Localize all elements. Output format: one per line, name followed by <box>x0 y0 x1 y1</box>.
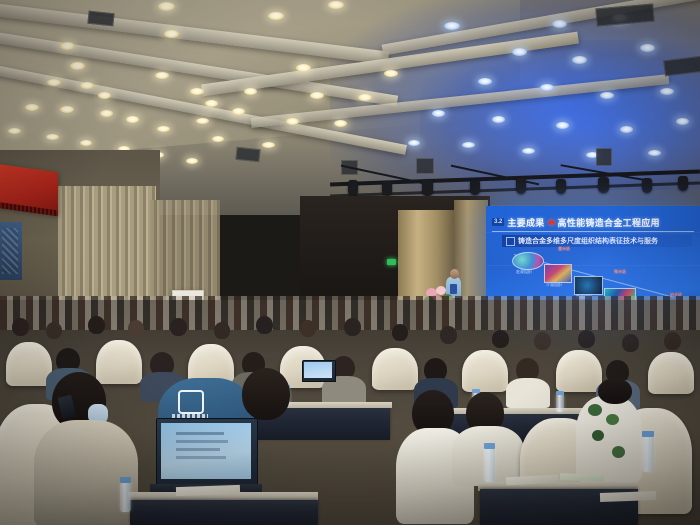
audience-head <box>214 322 230 339</box>
bullet-dot-icon <box>548 220 555 225</box>
audience-head <box>88 316 105 334</box>
downlight <box>432 110 445 117</box>
banner-square-icon <box>506 237 515 246</box>
micrograph-image <box>544 264 572 283</box>
downlight <box>158 2 175 11</box>
blouse-floral-motif <box>588 404 602 416</box>
downlight <box>286 118 299 125</box>
bottle-cap <box>484 443 495 449</box>
downlight <box>522 148 535 154</box>
downlight <box>334 120 347 127</box>
downlight <box>60 106 74 113</box>
slide-banner-text: 铸造合金多维多尺度组织结构表征技术与服务 <box>518 236 658 246</box>
audience-head <box>622 334 639 352</box>
water-bottle <box>120 482 131 512</box>
audience-head <box>440 326 457 344</box>
stage-light <box>678 176 688 191</box>
downlight <box>676 118 689 125</box>
downlight <box>492 116 505 123</box>
downlight <box>408 140 420 146</box>
downlight <box>358 94 372 101</box>
water-bottle <box>484 448 495 482</box>
downlight <box>478 78 492 85</box>
chair <box>372 348 418 390</box>
downlight <box>205 100 218 107</box>
wall-panel-decor <box>2 228 18 274</box>
slide-section-number: 3.2 <box>492 218 504 226</box>
stage-light <box>348 180 358 196</box>
downlight <box>8 128 21 134</box>
laptop-document-line <box>176 456 226 459</box>
ceiling-vent <box>87 11 114 27</box>
stage-light <box>470 180 480 195</box>
downlight <box>80 140 92 146</box>
downlight <box>244 88 257 95</box>
blouse-floral-motif <box>612 446 625 458</box>
water-bottle <box>556 394 564 412</box>
ceiling-vent <box>235 147 260 162</box>
downlight <box>46 134 59 140</box>
downlight <box>25 104 39 111</box>
slide-section-label: 主要成果 <box>507 216 544 229</box>
downlight <box>444 22 460 30</box>
slide-banner: 铸造合金多维多尺度组织结构表征技术与服务 <box>502 235 692 247</box>
micrograph-label: 宏观组织 <box>516 269 532 275</box>
micrograph-image <box>574 276 603 295</box>
stage-light <box>598 177 609 193</box>
downlight <box>98 92 111 99</box>
downlight <box>155 72 169 79</box>
audience-head-foreground <box>598 378 632 404</box>
audience-head <box>128 320 144 337</box>
shirt-logo <box>178 390 204 414</box>
downlight <box>157 126 170 132</box>
downlight <box>620 126 633 133</box>
downlight <box>600 92 614 99</box>
bottle-cap <box>642 431 654 437</box>
downlight <box>648 150 661 156</box>
laptop-screen-content <box>304 362 332 378</box>
downlight <box>572 56 587 64</box>
slide-header: 3.2 主要成果 高性能铸造合金工程应用 <box>492 215 696 229</box>
laptop-document-line <box>176 448 220 451</box>
downlight <box>556 122 569 129</box>
downlight <box>328 1 344 9</box>
downlight <box>47 79 61 86</box>
downlight <box>232 108 245 115</box>
stage-light <box>556 179 566 194</box>
blouse-floral-motif <box>592 430 604 441</box>
speaker-head <box>450 269 459 279</box>
laptop[interactable] <box>300 360 336 384</box>
document-handout[interactable] <box>560 473 604 482</box>
audience-head <box>12 318 29 336</box>
stage-light <box>422 179 433 196</box>
downlight <box>60 42 75 50</box>
micrograph-tag: 微米级 <box>614 269 626 275</box>
downlight <box>462 142 475 148</box>
audience-head <box>300 320 316 337</box>
audience-head <box>534 332 551 350</box>
blouse-floral-motif <box>606 414 619 425</box>
downlight <box>552 20 567 28</box>
stage-light <box>642 178 652 193</box>
downlight <box>164 30 179 38</box>
bottle-cap <box>556 391 564 395</box>
bottle-cap <box>120 477 131 483</box>
downlight <box>512 48 527 56</box>
downlight <box>212 136 224 142</box>
audience-head <box>170 318 187 336</box>
downlight <box>186 158 198 164</box>
audience-head <box>392 324 408 341</box>
ceiling-speaker <box>596 148 612 166</box>
audience-head <box>46 322 62 339</box>
exit-sign <box>387 259 396 265</box>
water-bottle <box>642 436 654 472</box>
stage-light <box>382 181 392 196</box>
downlight <box>660 88 674 95</box>
downlight <box>126 116 139 123</box>
audience-head <box>578 330 595 348</box>
downlight <box>196 118 209 124</box>
downlight <box>296 64 311 72</box>
table-skirt-foreground <box>130 500 318 525</box>
downlight <box>80 82 94 89</box>
audience-head <box>492 330 509 348</box>
chair <box>648 352 694 394</box>
downlight <box>190 88 204 95</box>
chair <box>96 340 142 384</box>
micrograph-image <box>512 252 544 270</box>
audience-head <box>344 318 361 336</box>
audience-head <box>664 332 681 350</box>
slide-header-rule <box>492 231 694 232</box>
downlight <box>268 12 284 20</box>
laptop-foreground[interactable] <box>150 418 262 496</box>
slide-headline: 高性能铸造合金工程应用 <box>558 216 660 229</box>
downlight <box>310 92 324 99</box>
micrograph-label: 介观组织 <box>546 282 562 288</box>
downlight <box>262 142 275 148</box>
chair <box>462 350 508 392</box>
downlight <box>100 110 113 117</box>
stage-light <box>516 178 526 194</box>
audience-torso-foreground <box>576 396 642 482</box>
laptop-document-line <box>176 440 228 443</box>
downlight <box>540 84 554 91</box>
downlight <box>640 44 655 52</box>
audience-head-foreground <box>242 368 290 420</box>
audience-head <box>256 316 273 334</box>
micrograph-tag: 厘米级 <box>558 246 570 252</box>
laptop-document-line <box>176 432 224 435</box>
conference-hall-photo: 3.2 主要成果 高性能铸造合金工程应用 铸造合金多维多尺度组织结构表征技术与服… <box>0 0 700 525</box>
audience-torso <box>506 378 550 408</box>
downlight <box>384 70 398 77</box>
downlight <box>70 62 85 70</box>
table-top <box>430 408 594 414</box>
chair <box>556 350 602 392</box>
